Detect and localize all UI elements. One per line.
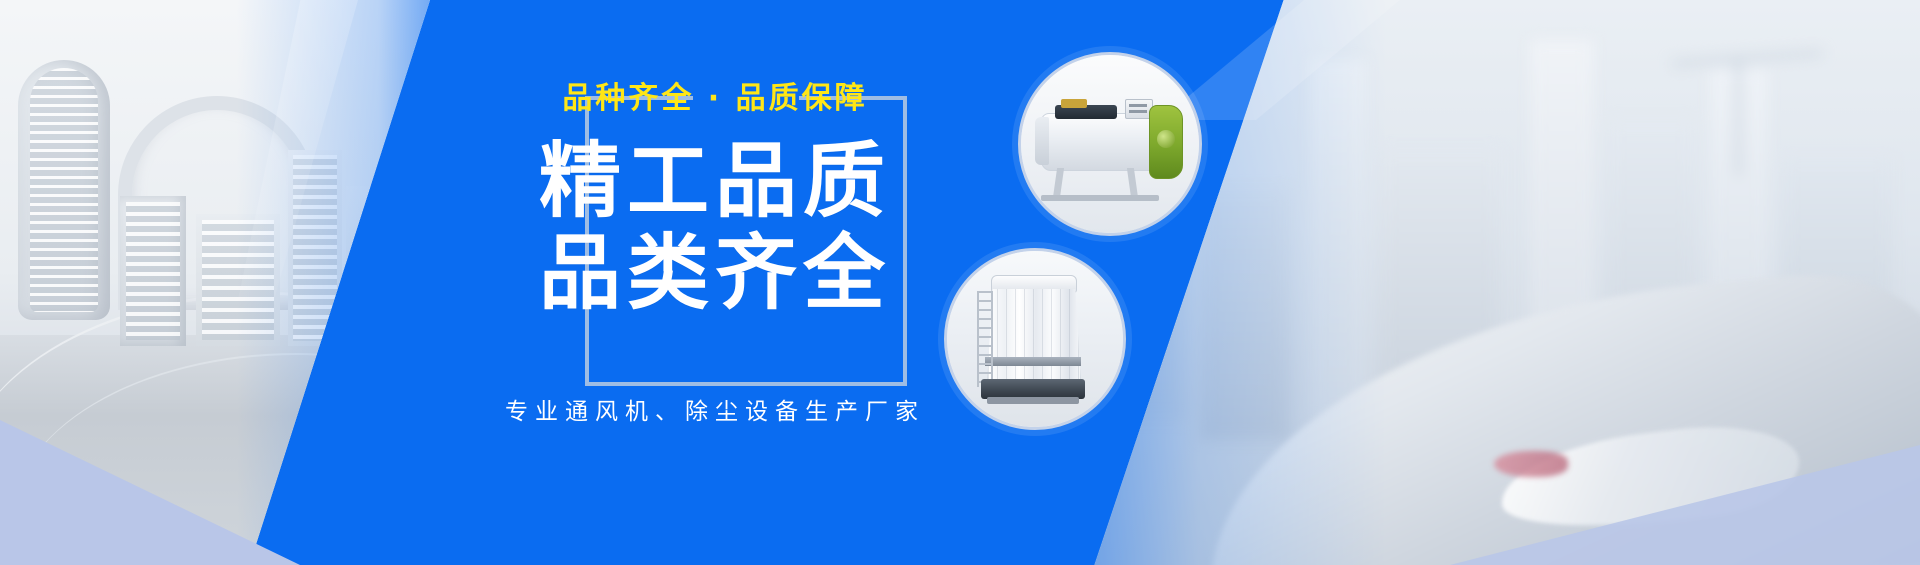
banner-tagline: 品种齐全 · 品质保障 [0,82,1430,115]
banner-text-block: 品种齐全 · 品质保障 精工品质 品类齐全 专业通风机、除尘设备生产厂家 [0,0,1920,565]
promo-banner: 品种齐全 · 品质保障 精工品质 品类齐全 专业通风机、除尘设备生产厂家 [0,0,1920,565]
banner-headline-line-2: 品类齐全 [0,232,1430,316]
banner-subtitle: 专业通风机、除尘设备生产厂家 [0,392,1430,426]
banner-headline-line-1: 精工品质 [0,140,1430,224]
